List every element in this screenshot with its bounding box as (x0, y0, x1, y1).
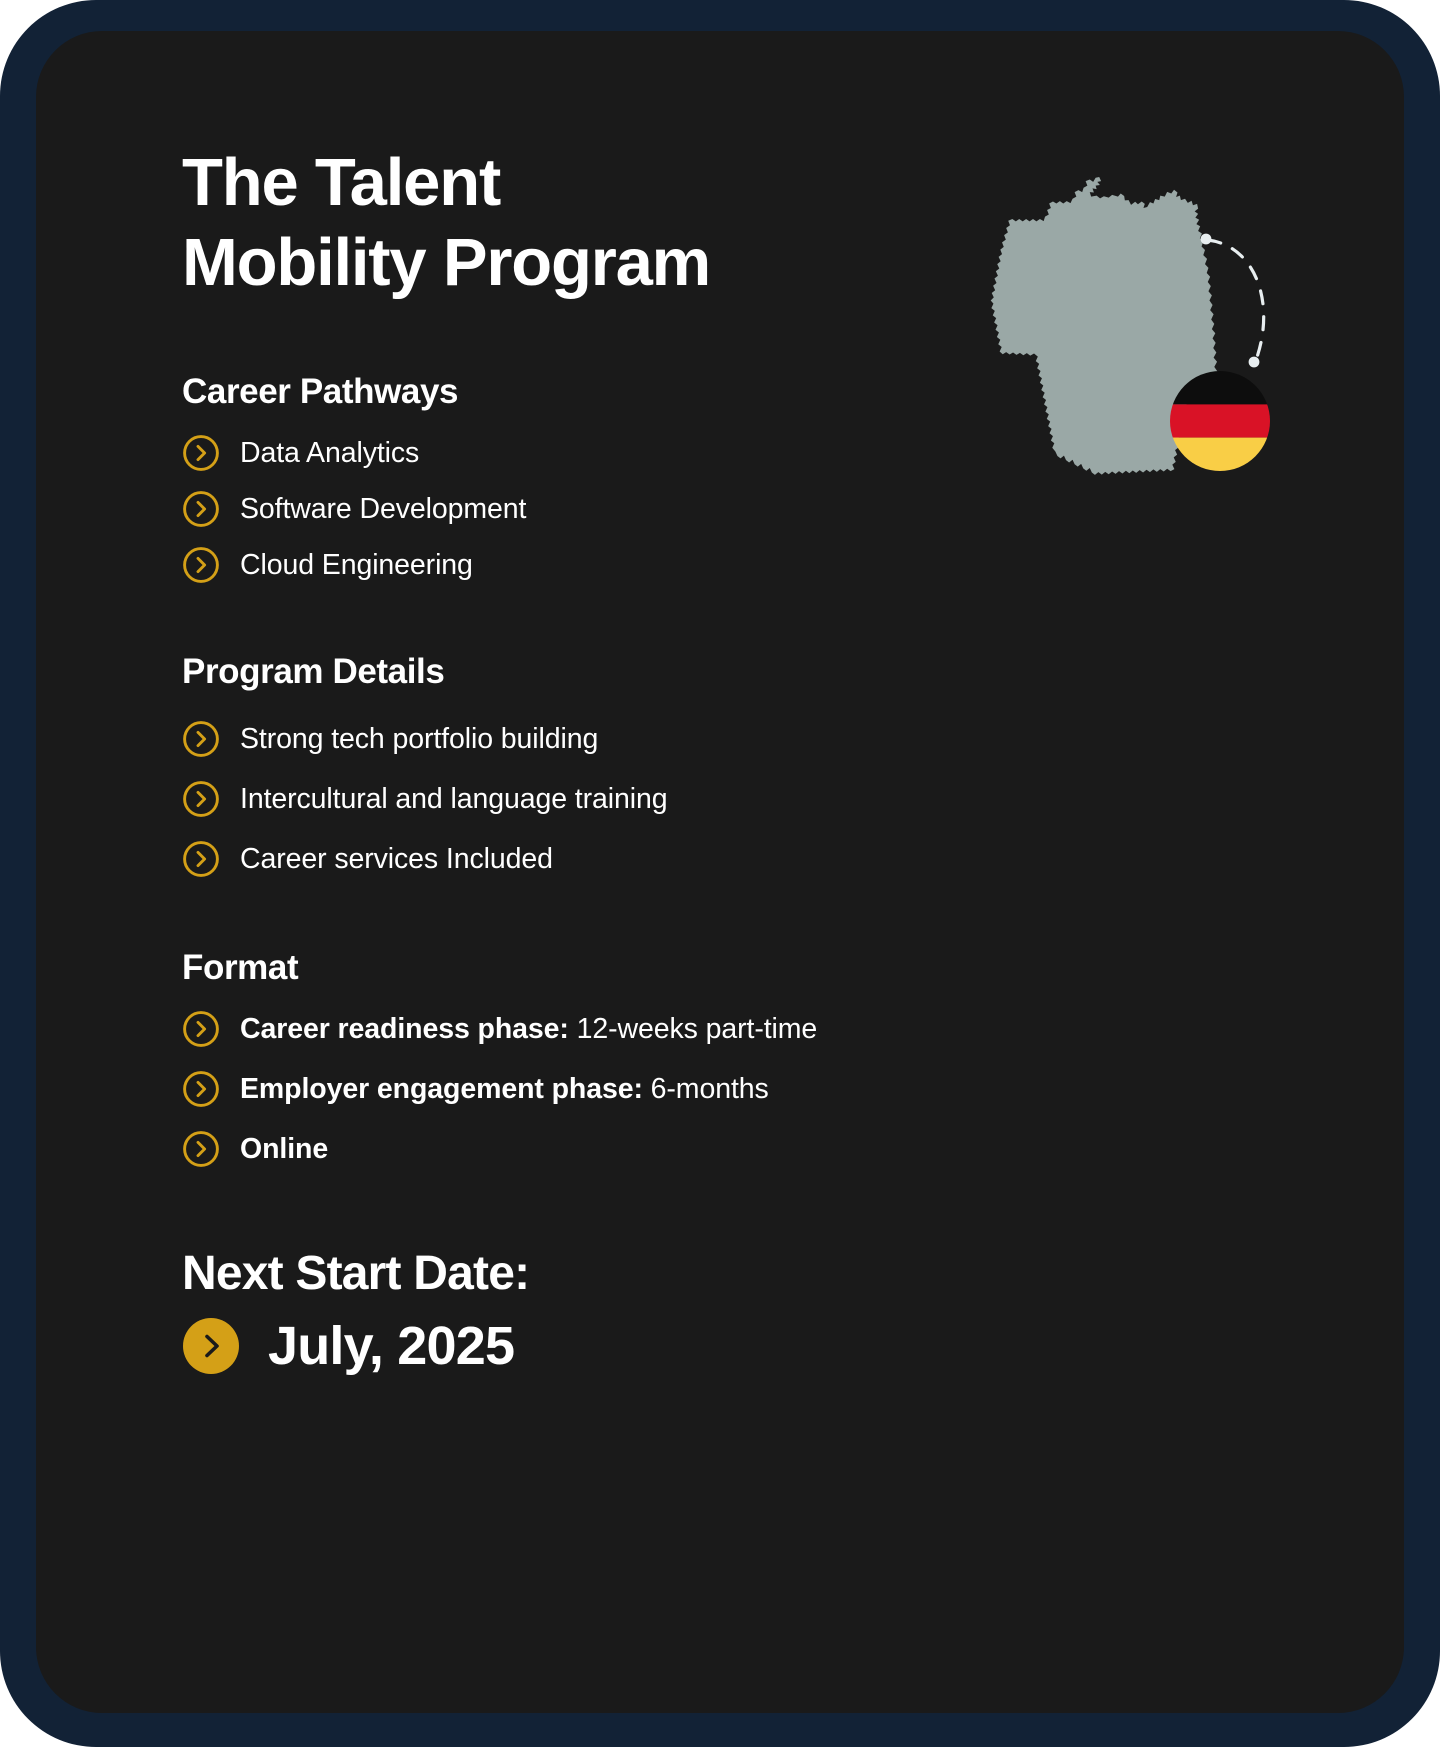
chevron-right-circle-icon (182, 546, 220, 584)
list-item[interactable]: Data Analytics (182, 434, 1262, 472)
list-item-label: Data Analytics (240, 436, 419, 472)
list-item-label: Career readiness phase: 12-weeks part-ti… (240, 1012, 817, 1048)
list-item[interactable]: Online (182, 1130, 1262, 1168)
list-item[interactable]: Career services Included (182, 840, 1262, 878)
list-item[interactable]: Cloud Engineering (182, 546, 1262, 584)
page-title-line-2: Mobility Program (182, 223, 862, 303)
chevron-right-circle-icon (182, 1130, 220, 1168)
section-next-start-date: Next Start Date: July, 2025 (182, 1246, 1262, 1377)
list-item-value: 12-weeks part-time (569, 1013, 817, 1045)
chevron-right-circle-icon (182, 720, 220, 758)
next-start-date-row[interactable]: July, 2025 (182, 1315, 1262, 1377)
list-item-label: Career services Included (240, 842, 553, 878)
chevron-right-circle-icon (182, 1010, 220, 1048)
list-item-lead: Career readiness phase: (240, 1013, 569, 1045)
list-item-lead: Employer engagement phase: (240, 1073, 643, 1105)
format-list: Career readiness phase: 12-weeks part-ti… (182, 1010, 1262, 1168)
chevron-right-filled-circle-icon (182, 1317, 240, 1375)
list-item-label: Online (240, 1132, 328, 1168)
section-career-pathways: Career Pathways Data Analytics (182, 372, 1262, 584)
next-start-date-value: July, 2025 (268, 1315, 514, 1377)
list-item-value: 6-months (643, 1073, 769, 1105)
list-item[interactable]: Software Development (182, 490, 1262, 528)
chevron-right-circle-icon (182, 1070, 220, 1108)
chevron-right-circle-icon (182, 434, 220, 472)
section-program-details: Program Details Strong tech portfolio bu… (182, 652, 1262, 878)
program-details-list: Strong tech portfolio building Intercult… (182, 720, 1262, 878)
list-item-label: Employer engagement phase: 6-months (240, 1072, 769, 1108)
list-item[interactable]: Career readiness phase: 12-weeks part-ti… (182, 1010, 1262, 1048)
section-heading-program-details: Program Details (182, 652, 1262, 692)
list-item[interactable]: Strong tech portfolio building (182, 720, 1262, 758)
card-content: The Talent Mobility Program Career Pathw… (182, 143, 1262, 1377)
section-heading-next-start-date: Next Start Date: (182, 1246, 1262, 1301)
list-item-label: Intercultural and language training (240, 782, 667, 818)
list-item-label: Cloud Engineering (240, 548, 473, 584)
page-title-line-1: The Talent (182, 143, 862, 223)
page-title: The Talent Mobility Program (182, 143, 862, 302)
list-item[interactable]: Employer engagement phase: 6-months (182, 1070, 1262, 1108)
career-pathways-list: Data Analytics Software Development (182, 434, 1262, 584)
chevron-right-circle-icon (182, 490, 220, 528)
section-format: Format Career readiness phase: 12-weeks … (182, 948, 1262, 1168)
chevron-right-circle-icon (182, 840, 220, 878)
list-item-label: Strong tech portfolio building (240, 722, 598, 758)
card-outer-frame: The Talent Mobility Program Career Pathw… (0, 0, 1440, 1747)
chevron-right-circle-icon (182, 780, 220, 818)
list-item[interactable]: Intercultural and language training (182, 780, 1262, 818)
list-item-label: Software Development (240, 492, 526, 528)
program-card: The Talent Mobility Program Career Pathw… (36, 31, 1404, 1713)
section-heading-career-pathways: Career Pathways (182, 372, 1262, 412)
section-heading-format: Format (182, 948, 1262, 988)
